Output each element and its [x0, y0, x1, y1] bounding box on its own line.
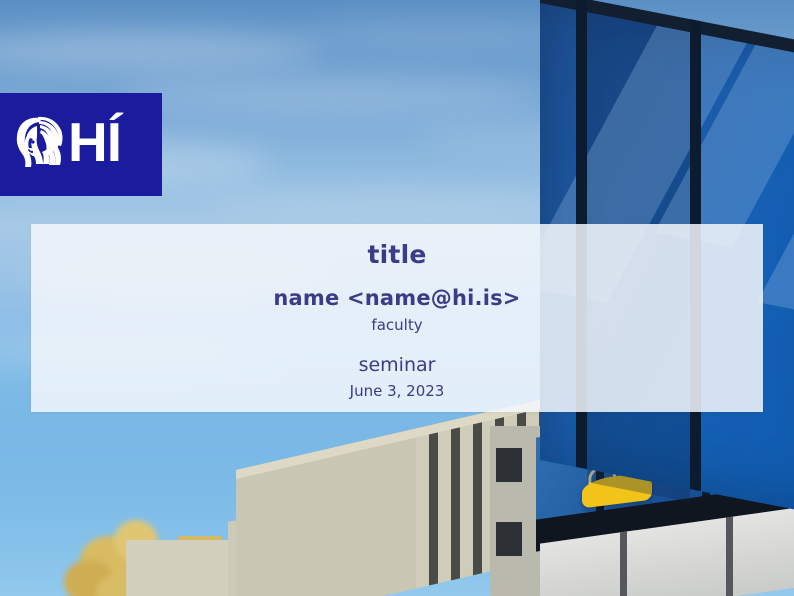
- logo-wordmark: HÍ: [68, 115, 121, 170]
- building-window: [496, 522, 522, 556]
- cloud-streak: [300, 20, 580, 48]
- author-line: name <name@hi.is>: [31, 286, 763, 310]
- building-concrete-wall-left: [126, 540, 236, 596]
- wall-divider: [620, 531, 627, 596]
- page-title: title: [31, 240, 763, 269]
- building-window: [496, 448, 522, 482]
- institute-line: faculty: [31, 316, 763, 334]
- cloud-streak: [120, 78, 540, 112]
- title-text-block: title name <name@hi.is> faculty seminar …: [31, 224, 763, 400]
- university-logo: HÍ: [0, 93, 162, 196]
- title-panel: title name <name@hi.is> faculty seminar …: [31, 224, 763, 412]
- event-line: seminar: [31, 354, 763, 376]
- date-line: June 3, 2023: [31, 382, 763, 400]
- wall-divider: [726, 517, 733, 596]
- cloud-streak: [200, 188, 580, 218]
- title-slide: HÍ title name <name@hi.is> faculty semin…: [0, 0, 794, 596]
- fjallkonan-head-profile-icon: [10, 112, 66, 178]
